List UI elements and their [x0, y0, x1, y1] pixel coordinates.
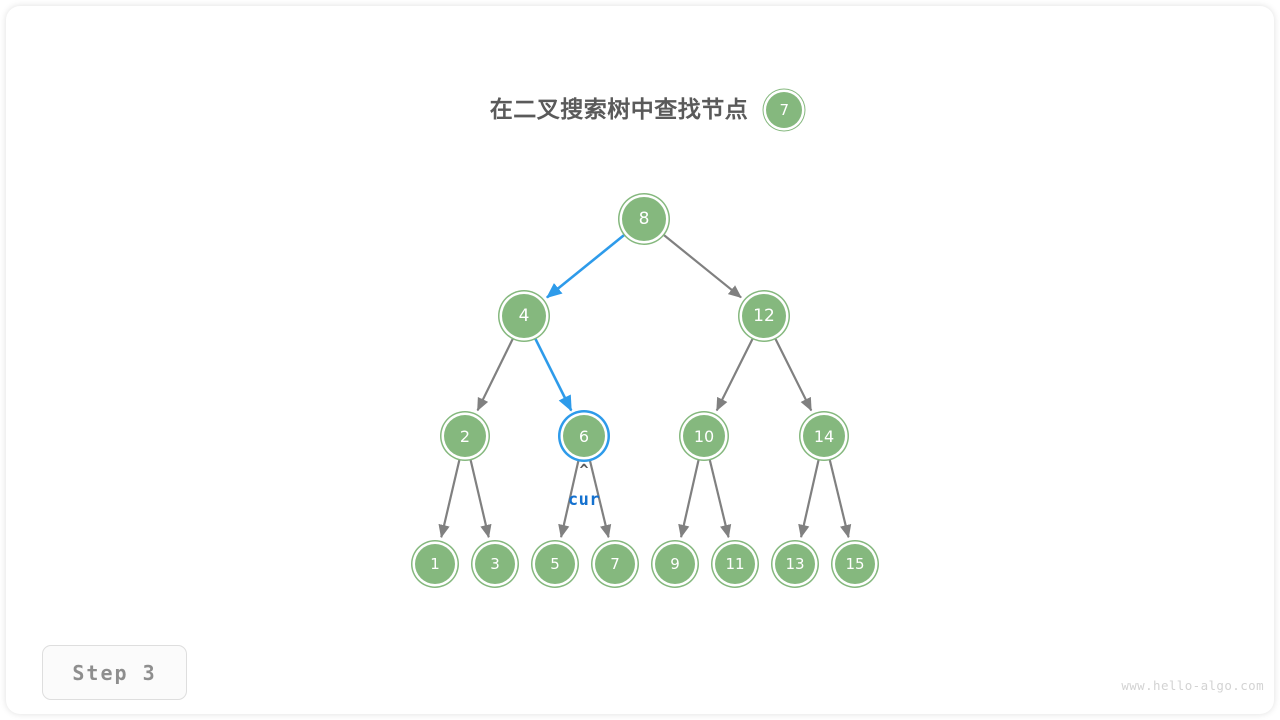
tree-edge-4-to-6 — [535, 338, 571, 411]
tree-node-11: 11 — [715, 544, 755, 584]
tree-node-4: 4 — [502, 294, 546, 338]
diagram-card: 在二叉搜索树中查找节点 7 841226101413579111315 ^ cu… — [6, 6, 1274, 714]
tree-edge-8-to-12 — [663, 234, 741, 297]
title-target-node: 7 — [766, 92, 802, 128]
tree-edge-12-to-10 — [717, 338, 753, 411]
tree-edge-2-to-1 — [441, 459, 459, 537]
tree-node-1: 1 — [415, 544, 455, 584]
step-badge: Step 3 — [42, 645, 187, 700]
tree-edge-14-to-13 — [801, 459, 819, 537]
tree-node-8: 8 — [622, 197, 666, 241]
watermark: www.hello-algo.com — [1121, 678, 1264, 693]
tree-edge-8-to-4 — [547, 234, 625, 297]
cur-caret-icon: ^ — [572, 463, 596, 478]
tree-edge-2-to-3 — [470, 459, 488, 537]
tree-edge-12-to-14 — [775, 338, 811, 411]
tree-node-14: 14 — [803, 415, 845, 457]
title-area: 在二叉搜索树中查找节点 7 — [6, 92, 1274, 128]
tree-node-3: 3 — [475, 544, 515, 584]
tree-edges — [6, 6, 1274, 714]
tree-node-5: 5 — [535, 544, 575, 584]
cur-pointer-label: cur — [554, 492, 614, 509]
tree-edge-4-to-2 — [478, 338, 514, 410]
diagram-stage: 在二叉搜索树中查找节点 7 841226101413579111315 ^ cu… — [6, 6, 1274, 714]
tree-edge-10-to-11 — [710, 459, 729, 537]
tree-node-7: 7 — [595, 544, 635, 584]
tree-node-10: 10 — [683, 415, 725, 457]
tree-edge-14-to-15 — [830, 459, 849, 537]
tree-node-15: 15 — [835, 544, 875, 584]
page-title: 在二叉搜索树中查找节点 — [490, 99, 749, 122]
tree-node-2: 2 — [444, 415, 486, 457]
tree-node-6: 6 — [563, 415, 605, 457]
tree-node-9: 9 — [655, 544, 695, 584]
tree-node-12: 12 — [742, 294, 786, 338]
tree-node-13: 13 — [775, 544, 815, 584]
tree-edge-10-to-9 — [681, 459, 699, 537]
